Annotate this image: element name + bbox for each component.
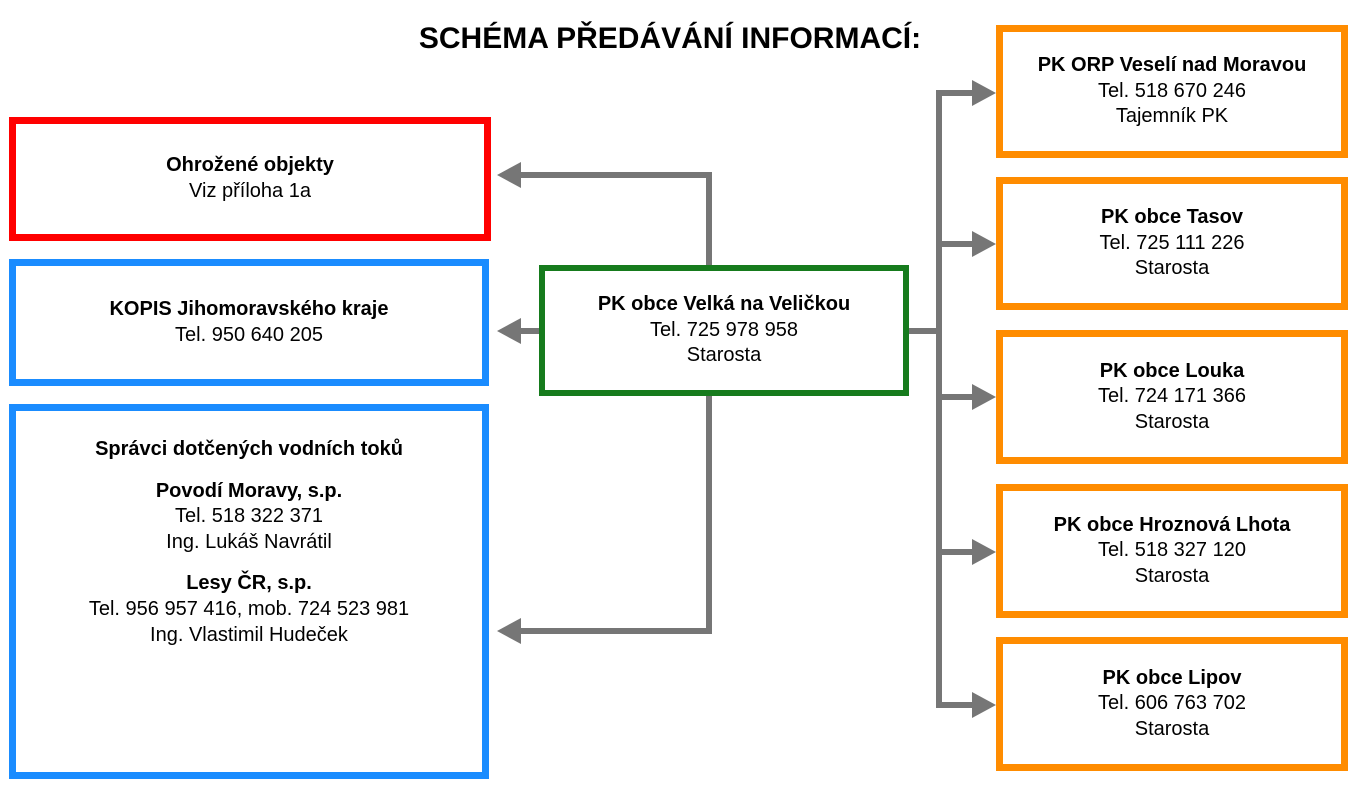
- right-box-3-line2: Starosta: [1135, 410, 1209, 436]
- watercourse-entry-lesy: Lesy ČR, s.p. Tel. 956 957 416, mob. 724…: [89, 571, 409, 648]
- watercourse-entry-povodi-name: Povodí Moravy, s.p.: [156, 479, 342, 505]
- kopis-box[interactable]: KOPIS Jihomoravského kraje Tel. 950 640 …: [9, 259, 489, 386]
- right-box-2-line2: Starosta: [1135, 256, 1209, 282]
- watercourse-entry-povodi-contact: Ing. Lukáš Navrátil: [156, 530, 342, 556]
- diagram-canvas: SCHÉMA PŘEDÁVÁNÍ INFORMACÍ: Ohrožené obj…: [0, 0, 1359, 787]
- right-box-4-line2: Starosta: [1135, 564, 1209, 590]
- center-box-header: PK obce Velká na Veličkou: [598, 292, 850, 318]
- connector-center-to-watercourses-horizontal: [521, 628, 712, 634]
- watercourse-entry-povodi-phone: Tel. 518 322 371: [156, 504, 342, 530]
- right-box-1-line2: Tajemník PK: [1116, 104, 1228, 130]
- right-box-pk-tasov[interactable]: PK obce Tasov Tel. 725 111 226 Starosta: [996, 177, 1348, 310]
- endangered-objects-box[interactable]: Ohrožené objekty Viz příloha 1a: [9, 117, 491, 241]
- center-box-pk-velka-na-velickou[interactable]: PK obce Velká na Veličkou Tel. 725 978 9…: [539, 265, 909, 396]
- arrow-to-right-box-5-icon: [972, 692, 996, 718]
- right-box-2-line1: Tel. 725 111 226: [1100, 231, 1245, 257]
- arrow-to-right-box-3-icon: [972, 384, 996, 410]
- arrow-to-right-box-4-icon: [972, 539, 996, 565]
- watercourse-entry-lesy-name: Lesy ČR, s.p.: [89, 571, 409, 597]
- connector-center-to-endangered-vertical: [706, 172, 712, 270]
- connector-center-to-endangered-horizontal: [521, 172, 712, 178]
- right-box-pk-orp-veseli[interactable]: PK ORP Veselí nad Moravou Tel. 518 670 2…: [996, 25, 1348, 158]
- right-box-1-line1: Tel. 518 670 246: [1098, 79, 1246, 105]
- center-box-line1: Tel. 725 978 958: [650, 318, 798, 344]
- endangered-objects-header: Ohrožené objekty: [166, 153, 334, 179]
- right-box-2-header: PK obce Tasov: [1101, 205, 1243, 231]
- watercourse-entry-lesy-phone: Tel. 956 957 416, mob. 724 523 981: [89, 597, 409, 623]
- right-box-5-line2: Starosta: [1135, 717, 1209, 743]
- arrow-to-right-box-2-icon: [972, 231, 996, 257]
- right-box-3-header: PK obce Louka: [1100, 359, 1244, 385]
- right-box-4-header: PK obce Hroznová Lhota: [1054, 513, 1291, 539]
- right-box-pk-louka[interactable]: PK obce Louka Tel. 724 171 366 Starosta: [996, 330, 1348, 464]
- arrow-to-watercourses-icon: [497, 618, 521, 644]
- arrow-to-right-box-1-icon: [972, 80, 996, 106]
- right-box-pk-hroznova-lhota[interactable]: PK obce Hroznová Lhota Tel. 518 327 120 …: [996, 484, 1348, 618]
- endangered-objects-line1: Viz příloha 1a: [189, 179, 311, 205]
- arrow-to-kopis-icon: [497, 318, 521, 344]
- center-box-line2: Starosta: [687, 343, 761, 369]
- watercourse-entry-povodi: Povodí Moravy, s.p. Tel. 518 322 371 Ing…: [156, 479, 342, 556]
- right-box-3-line1: Tel. 724 171 366: [1098, 384, 1246, 410]
- right-box-5-header: PK obce Lipov: [1103, 666, 1242, 692]
- right-box-5-line1: Tel. 606 763 702: [1098, 691, 1246, 717]
- right-box-1-header: PK ORP Veselí nad Moravou: [1038, 53, 1307, 79]
- watercourses-box[interactable]: Správci dotčených vodních toků Povodí Mo…: [9, 404, 489, 779]
- arrow-to-endangered-icon: [497, 162, 521, 188]
- watercourse-entry-lesy-contact: Ing. Vlastimil Hudeček: [89, 623, 409, 649]
- connector-center-to-watercourses-vertical: [706, 396, 712, 634]
- right-box-4-line1: Tel. 518 327 120: [1098, 538, 1246, 564]
- kopis-line1: Tel. 950 640 205: [175, 323, 323, 349]
- page-title: SCHÉMA PŘEDÁVÁNÍ INFORMACÍ:: [380, 22, 960, 55]
- kopis-header: KOPIS Jihomoravského kraje: [109, 297, 388, 323]
- watercourses-header: Správci dotčených vodních toků: [95, 437, 403, 463]
- right-box-pk-lipov[interactable]: PK obce Lipov Tel. 606 763 702 Starosta: [996, 637, 1348, 771]
